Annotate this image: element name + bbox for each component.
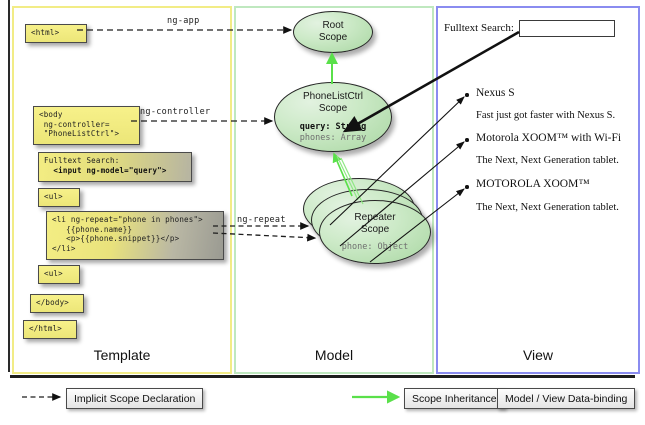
scope-phonelistctrl-line1: PhoneListCtrl	[303, 91, 363, 103]
view-bullet-2	[465, 185, 469, 189]
column-title-view: View	[438, 340, 638, 370]
scope-root-line1: Root	[322, 20, 343, 32]
column-title-template: Template	[14, 340, 230, 370]
view-phone-name-0: Nexus S	[476, 87, 515, 99]
code-box-fulltext-search: Fulltext Search: <input ng-model="query"…	[38, 152, 192, 182]
view-phone-name-2: MOTOROLA XOOM™	[476, 178, 590, 190]
scope-repeater: Repeater Scope phone: Object	[319, 200, 431, 264]
code-box-html-open: <html>	[25, 24, 87, 43]
edge-label-ng-controller: ng-controller	[140, 107, 210, 117]
legend-separator	[10, 375, 635, 378]
code-box-body-open: <body ng-controller= "PhoneListCtrl">	[33, 106, 140, 145]
code-search-line1: Fulltext Search:	[44, 156, 119, 165]
view-search-input[interactable]	[519, 20, 615, 37]
view-bullet-0	[465, 93, 469, 97]
scope-phonelistctrl: PhoneListCtrl Scope query: String phones…	[274, 82, 392, 152]
legend-item-implicit-scope-declaration: Implicit Scope Declaration	[66, 388, 203, 409]
scope-prop-phones: phones: Array	[300, 133, 367, 144]
scope-prop-query: query: String	[300, 122, 367, 133]
view-search-label: Fulltext Search:	[444, 22, 514, 34]
legend-item-model-view-data-binding: Model / View Data-binding	[497, 388, 635, 409]
edge-label-ng-app: ng-app	[167, 16, 200, 26]
view-phone-snippet-0: Fast just got faster with Nexus S.	[476, 110, 615, 121]
code-box-html-close: </html>	[23, 320, 77, 339]
view-phone-name-1: Motorola XOOM™ with Wi-Fi	[476, 132, 621, 144]
code-box-li-ng-repeat: <li ng-repeat="phone in phones"> {{phone…	[46, 211, 224, 260]
diagram-canvas: Template Model View <html> <body ng-cont…	[0, 0, 645, 425]
code-box-body-close: </body>	[30, 294, 84, 313]
left-rule	[8, 0, 10, 372]
view-phone-snippet-2: The Next, Next Generation tablet.	[476, 202, 619, 213]
column-title-model: Model	[236, 340, 432, 370]
view-phone-snippet-1: The Next, Next Generation tablet.	[476, 155, 619, 166]
column-view: View	[436, 6, 640, 374]
code-box-ul-close: <ul>	[38, 265, 80, 284]
view-bullet-1	[465, 138, 469, 142]
legend-item-scope-inheritance: Scope Inheritance	[404, 388, 505, 409]
code-search-line2: <input ng-model="query">	[44, 166, 167, 175]
code-box-ul-open: <ul>	[38, 188, 80, 207]
scope-repeater-line2: Scope	[361, 224, 389, 236]
edge-label-ng-repeat: ng-repeat	[237, 215, 286, 225]
scope-root: Root Scope	[293, 11, 373, 53]
scope-repeater-line1: Repeater	[354, 212, 395, 224]
scope-prop-phone: phone: Object	[342, 242, 409, 253]
scope-root-line2: Scope	[319, 32, 347, 44]
scope-phonelistctrl-line2: Scope	[319, 103, 347, 115]
